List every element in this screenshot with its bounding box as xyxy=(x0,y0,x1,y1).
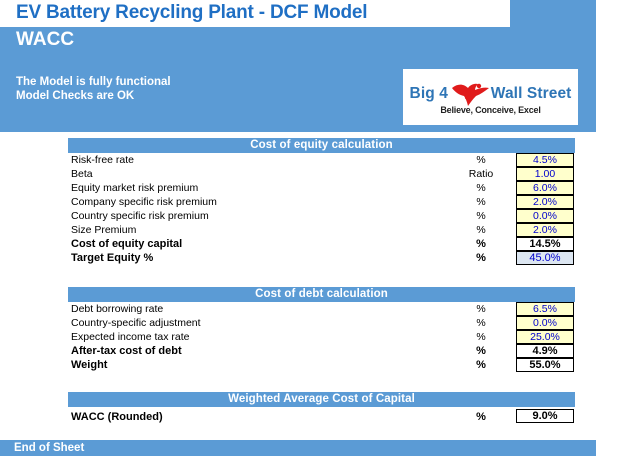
row-label: Weight xyxy=(71,358,107,372)
row-unit: % xyxy=(458,237,504,251)
row-value-calculated: 4.9% xyxy=(516,344,574,358)
model-check-messages: The Model is fully functional Model Chec… xyxy=(16,75,171,103)
row-label: Country specific risk premium xyxy=(71,209,209,223)
table-row: Company specific risk premium % 2.0% xyxy=(68,195,575,209)
row-value-input[interactable]: 1.00 xyxy=(516,167,574,181)
table-row: Risk-free rate % 4.5% xyxy=(68,153,575,167)
row-unit: % xyxy=(458,153,504,167)
row-value-input[interactable]: 2.0% xyxy=(516,223,574,237)
row-unit: % xyxy=(458,223,504,237)
row-unit: % xyxy=(458,330,504,344)
row-value-calculated: 14.5% xyxy=(516,237,574,251)
row-value-input[interactable]: 6.0% xyxy=(516,181,574,195)
row-value-input[interactable]: 2.0% xyxy=(516,195,574,209)
table-row: Country-specific adjustment % 0.0% xyxy=(68,316,575,330)
title-row: EV Battery Recycling Plant - DCF Model xyxy=(0,0,618,27)
table-row: Expected income tax rate % 25.0% xyxy=(68,330,575,344)
row-unit: % xyxy=(458,409,504,426)
row-value-input[interactable]: 4.5% xyxy=(516,153,574,167)
table-row: Size Premium % 2.0% xyxy=(68,223,575,237)
table-row: Cost of equity capital % 14.5% xyxy=(68,237,575,251)
table-row: WACC (Rounded) % 9.0% xyxy=(68,407,575,424)
row-label: Target Equity % xyxy=(71,251,153,265)
row-unit: % xyxy=(458,209,504,223)
table-row: Debt borrowing rate % 6.5% xyxy=(68,302,575,316)
section-cost-of-equity: Cost of equity calculation Risk-free rat… xyxy=(68,138,575,265)
header-band: WACC The Model is fully functional Model… xyxy=(0,27,596,132)
row-label: WACC (Rounded) xyxy=(71,409,163,426)
table-row: Equity market risk premium % 6.0% xyxy=(68,181,575,195)
row-value-target[interactable]: 45.0% xyxy=(516,251,574,265)
title-accent-block xyxy=(510,0,596,27)
row-unit: % xyxy=(458,302,504,316)
table-row: After-tax cost of debt % 4.9% xyxy=(68,344,575,358)
logo-text-right: Wall Street xyxy=(491,85,572,103)
end-of-sheet-label: End of Sheet xyxy=(14,440,84,456)
sheet-subtitle: WACC xyxy=(16,29,74,51)
row-label: Beta xyxy=(71,167,93,181)
company-logo: Big 4 Wall Street Believe, Conceive, Exc… xyxy=(403,69,578,125)
table-row: Weight % 55.0% xyxy=(68,358,575,372)
logo-tagline: Believe, Conceive, Excel xyxy=(403,105,578,115)
row-value-input[interactable]: 6.5% xyxy=(516,302,574,316)
row-value-calculated: 9.0% xyxy=(516,409,574,423)
row-unit: % xyxy=(458,195,504,209)
model-check-line-1: The Model is fully functional xyxy=(16,75,171,89)
row-label: Size Premium xyxy=(71,223,136,237)
row-value-input[interactable]: 0.0% xyxy=(516,209,574,223)
row-label: Cost of equity capital xyxy=(71,237,182,251)
section-wacc: Weighted Average Cost of Capital WACC (R… xyxy=(68,392,575,424)
row-unit: Ratio xyxy=(458,167,504,181)
row-label: Equity market risk premium xyxy=(71,181,198,195)
logo-text-left: Big 4 xyxy=(410,85,448,103)
row-unit: % xyxy=(458,181,504,195)
row-unit: % xyxy=(458,316,504,330)
model-check-line-2: Model Checks are OK xyxy=(16,89,171,103)
row-label: Country-specific adjustment xyxy=(71,316,201,330)
row-label: Company specific risk premium xyxy=(71,195,217,209)
row-value-calculated: 55.0% xyxy=(516,358,574,372)
row-label: Debt borrowing rate xyxy=(71,302,163,316)
section-cost-of-debt: Cost of debt calculation Debt borrowing … xyxy=(68,287,575,372)
footer-bar: End of Sheet xyxy=(0,440,596,456)
row-label: After-tax cost of debt xyxy=(71,344,182,358)
table-row: Country specific risk premium % 0.0% xyxy=(68,209,575,223)
table-row: Target Equity % % 45.0% xyxy=(68,251,575,265)
row-label: Risk-free rate xyxy=(71,153,134,167)
row-value-input[interactable]: 0.0% xyxy=(516,316,574,330)
section-header-cost-of-debt: Cost of debt calculation xyxy=(68,287,575,302)
row-unit: % xyxy=(458,358,504,372)
section-header-wacc: Weighted Average Cost of Capital xyxy=(68,392,575,407)
page-title: EV Battery Recycling Plant - DCF Model xyxy=(16,2,367,24)
row-value-input[interactable]: 25.0% xyxy=(516,330,574,344)
row-unit: % xyxy=(458,251,504,265)
section-header-cost-of-equity: Cost of equity calculation xyxy=(68,138,575,153)
row-label: Expected income tax rate xyxy=(71,330,189,344)
table-row: Beta Ratio 1.00 xyxy=(68,167,575,181)
row-unit: % xyxy=(458,344,504,358)
eagle-icon xyxy=(449,79,491,107)
logo-wordmark: Big 4 Wall Street xyxy=(403,80,578,108)
